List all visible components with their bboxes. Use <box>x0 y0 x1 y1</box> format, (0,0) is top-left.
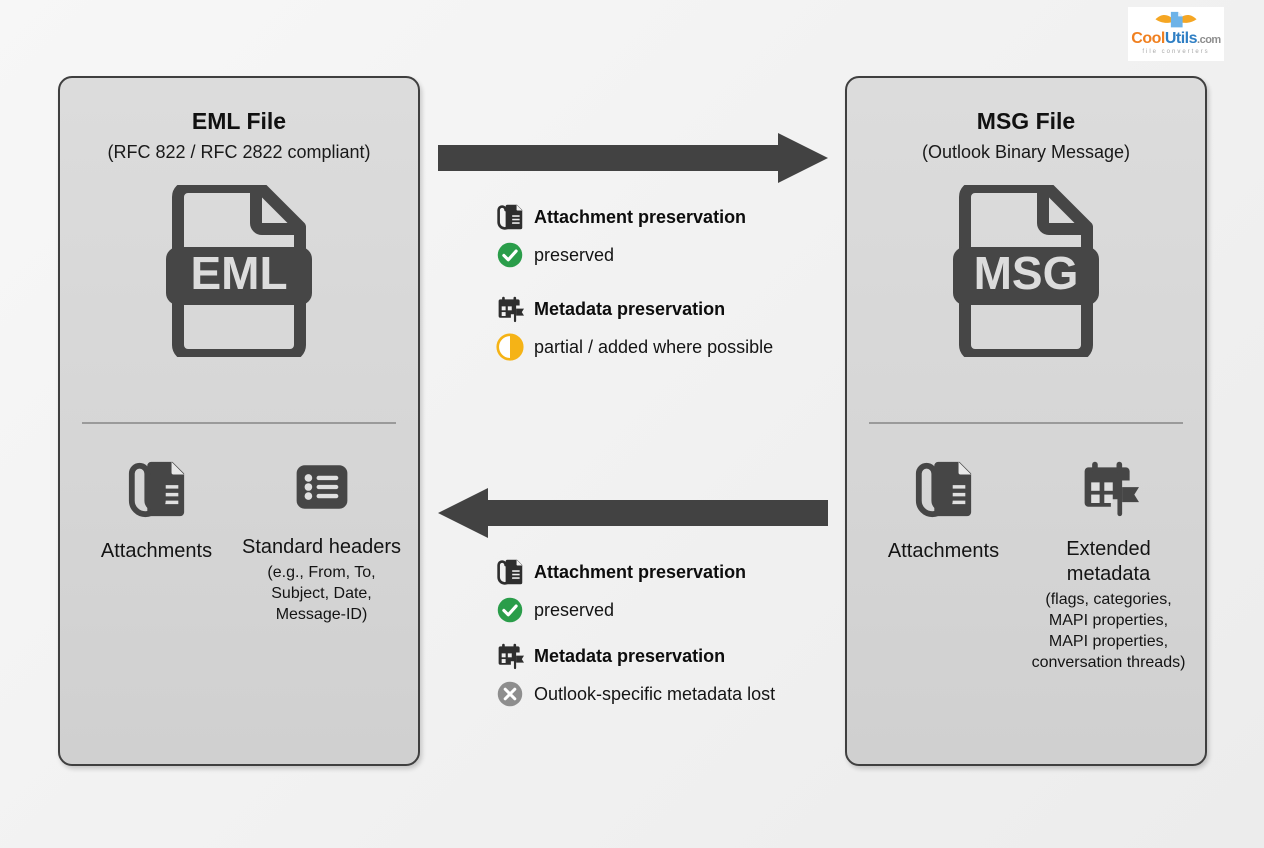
msg-feature-attachments: Attachments <box>864 458 1024 564</box>
x-circle-icon <box>496 680 524 708</box>
msg-panel-divider <box>869 422 1183 424</box>
calendar-flag-icon <box>1079 458 1139 523</box>
eml-panel-subtitle: (RFC 822 / RFC 2822 compliant) <box>60 142 418 163</box>
calendar-flag-icon <box>496 295 524 323</box>
half-circle-icon <box>496 333 524 361</box>
msg-file-icon-wrap: MSG <box>847 185 1205 357</box>
logo-tagline: file converters <box>1142 48 1209 57</box>
eml-feature-headers-label: Standard headers <box>242 535 401 560</box>
flow-eml-to-msg: Attachment preservation preserved Metada… <box>496 203 836 361</box>
flow-row-heading: Metadata preservation <box>496 295 836 323</box>
eml-feature-attachments: Attachments <box>77 458 237 564</box>
eml-feature-headers-detail: (e.g., From, To, Subject, Date, Message-… <box>242 562 402 625</box>
eml-panel-title: EML File <box>60 108 418 135</box>
flow-row-heading: Attachment preservation <box>496 203 836 231</box>
attachment-document-icon <box>496 203 524 231</box>
flow-row-heading: Attachment preservation <box>496 558 836 586</box>
logo-cool-text: Cool <box>1131 30 1165 47</box>
msg-panel-subtitle: (Outlook Binary Message) <box>847 142 1205 163</box>
eml-feature-attachments-label: Attachments <box>101 539 212 564</box>
msg-panel-title: MSG File <box>847 108 1205 135</box>
msg-feature-extended-metadata-detail: (flags, categories, MAPI properties, MAP… <box>1029 589 1189 673</box>
flow-row-status: preserved <box>496 241 836 269</box>
flow-status-label: Outlook-specific metadata lost <box>534 684 775 705</box>
list-headers-icon <box>293 458 351 521</box>
flow-msg-to-eml: Attachment preservation preserved Metada… <box>496 558 836 708</box>
flow-heading-label: Metadata preservation <box>534 299 725 320</box>
logo-winged-file-icon <box>1154 9 1198 31</box>
attachment-document-icon <box>496 558 524 586</box>
check-circle-icon <box>496 241 524 269</box>
flow-heading-label: Attachment preservation <box>534 207 746 228</box>
flow-row-heading: Metadata preservation <box>496 642 836 670</box>
eml-feature-row: Attachments Standard headers (e.g., From… <box>60 458 418 625</box>
calendar-flag-icon <box>496 642 524 670</box>
msg-ext-label: MSG <box>974 247 1079 299</box>
logo-utils-text: Utils <box>1165 30 1197 47</box>
arrow-right-icon <box>438 133 828 183</box>
eml-file-icon: EML <box>164 185 314 357</box>
msg-file-panel: MSG File (Outlook Binary Message) MSG <box>845 76 1207 766</box>
arrow-left-icon <box>438 488 828 538</box>
flow-heading-label: Attachment preservation <box>534 562 746 583</box>
flow-status-label: preserved <box>534 245 614 266</box>
flow-row-status: partial / added where possible <box>496 333 836 361</box>
attachment-document-icon <box>126 458 188 525</box>
flow-row-status: preserved <box>496 596 836 624</box>
msg-feature-row: Attachments Extended metadata (flags, ca… <box>847 458 1205 673</box>
msg-feature-attachments-label: Attachments <box>888 539 999 564</box>
eml-panel-divider <box>82 422 396 424</box>
flow-heading-label: Metadata preservation <box>534 646 725 667</box>
msg-file-icon: MSG <box>951 185 1101 357</box>
eml-file-panel: EML File (RFC 822 / RFC 2822 compliant) … <box>58 76 420 766</box>
attachment-document-icon <box>913 458 975 525</box>
msg-feature-extended-metadata-label: Extended metadata <box>1029 537 1189 587</box>
logo-com-text: .com <box>1197 34 1221 46</box>
msg-feature-extended-metadata: Extended metadata (flags, categories, MA… <box>1029 458 1189 673</box>
eml-feature-headers: Standard headers (e.g., From, To, Subjec… <box>242 458 402 625</box>
flow-row-status: Outlook-specific metadata lost <box>496 680 836 708</box>
logo-wordmark: CoolUtils.com <box>1131 31 1220 48</box>
flow-status-label: partial / added where possible <box>534 337 773 358</box>
eml-ext-label: EML <box>190 247 287 299</box>
coolutils-logo: CoolUtils.com file converters <box>1128 7 1224 61</box>
eml-file-icon-wrap: EML <box>60 185 418 357</box>
check-circle-icon <box>496 596 524 624</box>
flow-status-label: preserved <box>534 600 614 621</box>
